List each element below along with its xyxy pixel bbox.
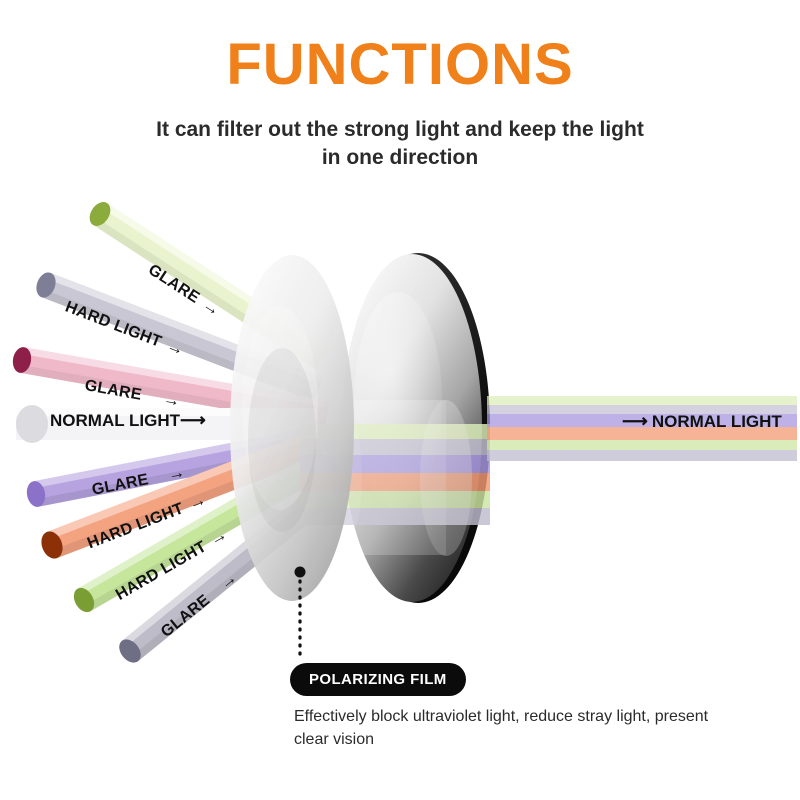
ray-label-normal-light-in: NORMAL LIGHT⟶ [50, 410, 204, 431]
infographic-canvas: FUNCTIONS It can filter out the strong l… [0, 0, 800, 800]
arrow-icon: → [166, 462, 187, 485]
callout-caption: Effectively block ultraviolet light, red… [294, 705, 714, 751]
ray-label-text: NORMAL LIGHT [50, 411, 180, 430]
arrow-icon: ⟶ [180, 410, 204, 431]
arrow-icon: ⟶ [622, 411, 646, 432]
callout-anchor-dot [295, 567, 306, 578]
ray-label-text: NORMAL LIGHT [652, 412, 782, 431]
front-lens-disc [230, 255, 354, 601]
arrow-icon: → [162, 389, 183, 412]
polarizing-film-badge[interactable]: POLARIZING FILM [290, 663, 466, 696]
ray-label-normal-light-out: ⟶NORMAL LIGHT [622, 411, 782, 432]
